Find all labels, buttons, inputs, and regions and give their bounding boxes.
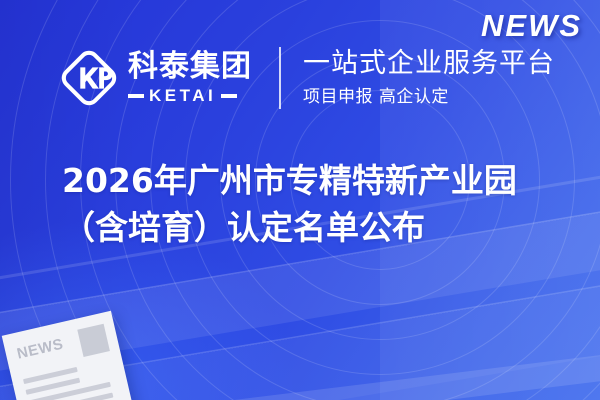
wordmark-dash-right [221,94,237,98]
banner-header: 科泰集团 KETAI 一站式企业服务平台 项目申报 高企认定 [0,38,600,118]
brand-wordmark: 科泰集团 KETAI [128,52,252,104]
wordmark-dash-left [128,94,144,98]
header-divider [279,47,281,109]
headline-title: 2026年广州市专精特新产业园（含培育）认定名单公布 [62,158,562,252]
news-banner: NEWS 科泰集团 KETAI [0,0,600,400]
brand-name-en: KETAI [149,87,216,104]
brand-name-cn: 科泰集团 [128,52,252,82]
slogan-secondary: 项目申报 高企认定 [303,88,555,107]
image-placeholder-icon [77,324,110,357]
brand-slogan: 一站式企业服务平台 项目申报 高企认定 [303,49,555,106]
slogan-primary: 一站式企业服务平台 [303,49,555,79]
newspaper-masthead: NEWS [16,333,82,362]
ketai-diamond-monogram-icon [58,47,120,109]
newspaper-illustration: NEWS [2,311,135,400]
brand-name-en-row: KETAI [128,87,252,104]
brand-logo[interactable]: 科泰集团 KETAI [58,47,252,109]
